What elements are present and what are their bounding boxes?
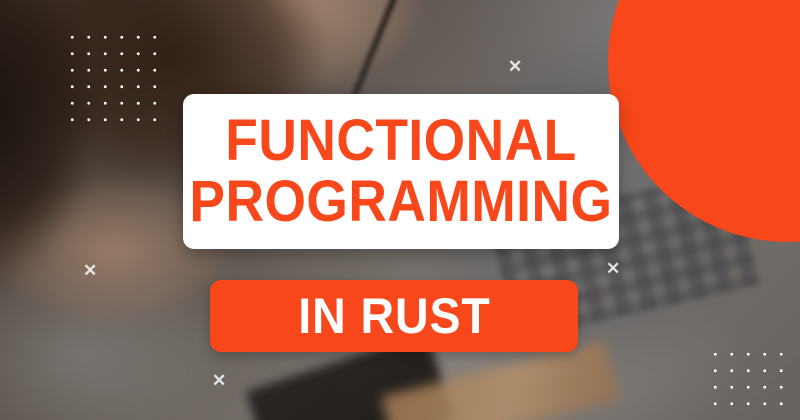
subtitle-banner: IN RUST [210,280,578,352]
title-line-two: PROGRAMMING [189,174,612,231]
dot-grid-top-left-icon [62,27,162,127]
title-line-one: FUNCTIONAL [225,113,576,170]
poster-banner: ✕ ✕ ✕ ✕ FUNCTIONAL PROGRAMMING IN RUST [0,0,800,420]
x-mark-icon-top: ✕ [508,58,522,75]
x-mark-icon-bottom: ✕ [212,372,226,389]
dot-grid-bottom-right-icon [705,344,789,412]
x-mark-icon-right: ✕ [606,260,620,277]
title-card: FUNCTIONAL PROGRAMMING [183,94,619,249]
x-mark-icon-left: ✕ [83,262,97,279]
subtitle-text: IN RUST [298,291,491,341]
